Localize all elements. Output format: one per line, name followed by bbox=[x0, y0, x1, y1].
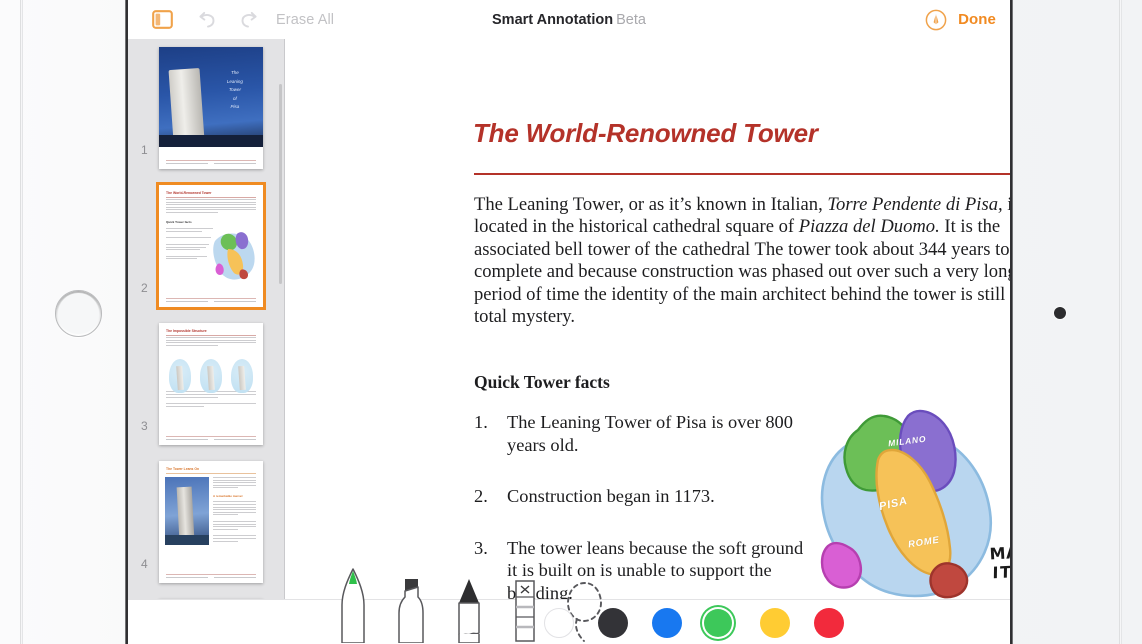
top-toolbar: Erase All Smart AnnotationBeta Done bbox=[128, 0, 1010, 40]
pencil-icon bbox=[452, 577, 486, 643]
thumbnail-side-text: A remarkable marvel bbox=[213, 477, 256, 543]
page-number: 4 bbox=[141, 557, 148, 571]
thumbnail-title: The World-Renowned Tower bbox=[166, 191, 256, 195]
thumbnail-footer bbox=[166, 160, 256, 164]
smart-annotation-icon[interactable] bbox=[925, 9, 947, 31]
cover-artwork: TheLeaningTowerofPisa bbox=[159, 47, 263, 147]
toolbar-beta-badge: Beta bbox=[616, 12, 646, 28]
tool-lasso[interactable] bbox=[564, 577, 608, 644]
undo-icon bbox=[195, 11, 217, 29]
color-swatch-green[interactable] bbox=[700, 605, 736, 641]
ipad-device: Erase All Smart AnnotationBeta Done 1 bbox=[0, 0, 1142, 644]
list-item-text: The tower leans because the soft ground … bbox=[507, 537, 804, 599]
thumbnail-row: 5 The Galileo Experiment bbox=[128, 591, 285, 599]
thumbnail-footer bbox=[166, 436, 256, 440]
color-swatch-yellow[interactable] bbox=[760, 608, 790, 638]
page-number: 3 bbox=[141, 419, 148, 433]
list-item-number: 1. bbox=[474, 411, 507, 456]
thumbnail-row: 4 The Tower Leans On bbox=[128, 453, 285, 591]
italy-map-illustration: MILANO PISA ROME MAPof ITALY bbox=[812, 384, 1010, 599]
thumbnail-map-illustration bbox=[209, 223, 259, 285]
thumbnail-row: 1 TheLeaningTowerofPisa bbox=[128, 39, 285, 177]
page-thumbnail-3[interactable]: The Impossible Structure bbox=[159, 323, 263, 445]
page-number: 2 bbox=[141, 281, 148, 295]
front-camera-icon bbox=[1054, 307, 1066, 319]
list-item-text: Construction began in 1173. bbox=[507, 485, 804, 508]
facts-heading: Quick Tower facts bbox=[474, 372, 610, 393]
toolbar-title-text: Smart Annotation bbox=[492, 12, 613, 28]
ipad-screen: Erase All Smart AnnotationBeta Done 1 bbox=[128, 0, 1010, 644]
cover-title-text: TheLeaningTowerofPisa bbox=[213, 69, 257, 112]
document-page: The World-Renowned Tower The Leaning Tow… bbox=[285, 39, 1010, 599]
thumbnail-footer bbox=[166, 298, 256, 302]
tool-pen[interactable] bbox=[336, 567, 370, 644]
redo-icon bbox=[239, 11, 261, 29]
screen-bezel-right bbox=[1010, 0, 1013, 644]
tool-highlighter[interactable] bbox=[394, 577, 428, 644]
thumbnail-row: 2 The World-Renowned Tower Quick Tower f… bbox=[128, 177, 285, 315]
list-item-number: 2. bbox=[474, 485, 507, 508]
body-paragraph: The Leaning Tower, or as it’s known in I… bbox=[474, 194, 1010, 328]
annotation-line-2: ITALY bbox=[992, 561, 1010, 581]
highlighter-icon bbox=[394, 577, 428, 643]
tool-eraser[interactable] bbox=[510, 577, 540, 644]
thumbnail-row: 3 The Impossible Structure bbox=[128, 315, 285, 453]
list-item-text: The Leaning Tower of Pisa is over 800 ye… bbox=[507, 411, 804, 456]
color-swatch-white[interactable] bbox=[544, 608, 574, 638]
annotation-tool-palette bbox=[128, 599, 1010, 644]
sidebar-toggle-button[interactable] bbox=[140, 0, 184, 39]
thumbnail-content: The Impossible Structure bbox=[159, 323, 263, 445]
tool-pencil[interactable] bbox=[452, 577, 486, 644]
document-canvas[interactable]: The World-Renowned Tower The Leaning Tow… bbox=[285, 39, 1010, 599]
erase-all-button[interactable]: Erase All bbox=[276, 12, 334, 28]
home-button[interactable] bbox=[55, 290, 102, 337]
bezel-right-edge bbox=[1119, 0, 1122, 644]
color-swatch-red[interactable] bbox=[814, 608, 844, 638]
sidebar-toggle-icon bbox=[152, 10, 173, 29]
map-of-italy-annotation: MAPof ITALY bbox=[989, 543, 1010, 582]
facts-list: 1. The Leaning Tower of Pisa is over 800… bbox=[474, 411, 804, 599]
sidebar-scrollbar[interactable] bbox=[279, 84, 282, 284]
cover-tower-shape bbox=[169, 68, 205, 142]
page-thumbnail-2[interactable]: The World-Renowned Tower Quick Tower fac… bbox=[156, 182, 266, 310]
eraser-icon bbox=[510, 577, 540, 643]
thumbnail-footer bbox=[166, 574, 256, 578]
page-thumbnail-sidebar[interactable]: 1 TheLeaningTowerofPisa bbox=[128, 39, 285, 599]
color-swatch-blue[interactable] bbox=[652, 608, 682, 638]
done-button[interactable]: Done bbox=[958, 11, 996, 28]
list-item: 2. Construction began in 1173. bbox=[474, 485, 804, 508]
color-swatch-dark[interactable] bbox=[598, 608, 628, 638]
thumbnail-tower-photo bbox=[165, 477, 209, 545]
undo-button[interactable] bbox=[184, 0, 228, 39]
toolbar-right-group: Done bbox=[925, 9, 996, 31]
thumbnail-scroll-container: 1 TheLeaningTowerofPisa bbox=[128, 39, 285, 599]
redo-button[interactable] bbox=[228, 0, 272, 39]
thumbnail-towers-illustration bbox=[159, 357, 263, 393]
thumbnail-title: The Impossible Structure bbox=[166, 329, 256, 333]
bezel-left-edge bbox=[20, 0, 23, 644]
thumbnail-content: The Tower Leans On A remarkable marvel bbox=[159, 461, 263, 583]
page-title: The World-Renowned Tower bbox=[473, 118, 818, 149]
list-item: 1. The Leaning Tower of Pisa is over 800… bbox=[474, 411, 804, 456]
thumbnail-title: The Tower Leans On bbox=[166, 467, 256, 471]
italy-map-svg bbox=[812, 384, 1010, 599]
title-rule bbox=[474, 173, 1010, 175]
page-thumbnail-1[interactable]: TheLeaningTowerofPisa bbox=[159, 47, 263, 169]
thumbnail-content: The World-Renowned Tower Quick Tower fac… bbox=[159, 185, 263, 307]
toolbar-left-group: Erase All bbox=[128, 0, 334, 39]
page-thumbnail-4[interactable]: The Tower Leans On A remarkable marvel bbox=[159, 461, 263, 583]
pen-icon bbox=[336, 567, 370, 643]
cover-ground bbox=[159, 135, 263, 147]
page-number: 1 bbox=[141, 143, 148, 157]
annotation-line-1: MAP bbox=[989, 542, 1010, 563]
